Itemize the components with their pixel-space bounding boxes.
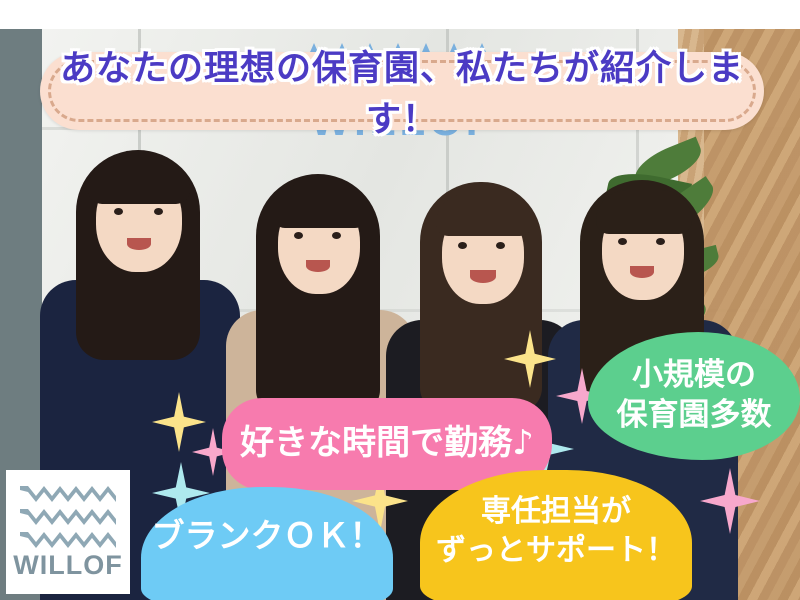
willof-wordmark: WILLOF [6,550,130,581]
headline-banner: あなたの理想の保育園、私たちが紹介します！ [40,52,764,130]
bubble-blank-ok-text: ブランクＯＫ！ [152,515,383,557]
willof-zigzag-icon [20,486,116,548]
bubble-dedicated-support-text: 専任担当がずっとサポート！ [436,493,676,570]
headline-text: あなたの理想の保育園、私たちが紹介します！ [40,40,764,142]
willof-logo: WILLOF [6,470,130,594]
bubble-small-nursery-text: 小規模の保育園多数 [617,356,772,435]
ad-banner: WILLOF [0,0,800,600]
bubble-dedicated-support: 専任担当がずっとサポート！ [420,470,692,600]
bubble-flexible-hours-text: 好きな時間で勤務♪ [240,422,534,466]
